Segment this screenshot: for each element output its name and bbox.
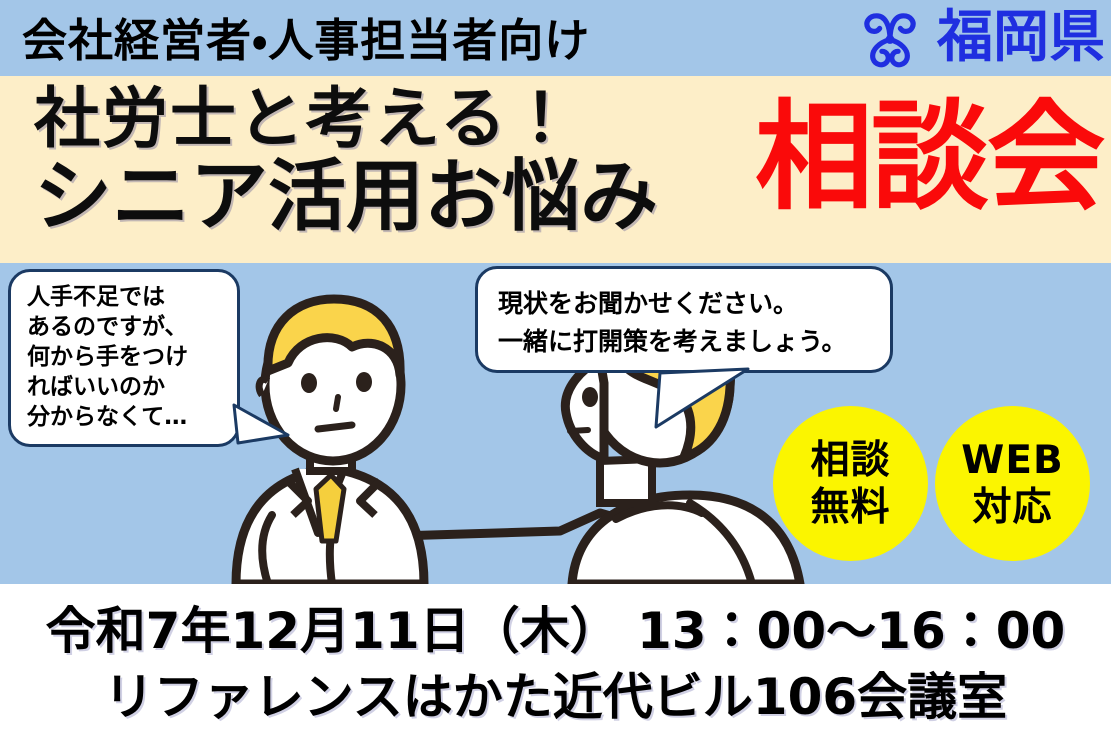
illustration-band: 人手不足では あるのですが、 何から手をつけ ればいいのか 分からなくて… 現状… xyxy=(0,263,1111,584)
fee-badge-line-2: 無料 xyxy=(810,484,890,531)
poster-root: 会社経営者・人事担当者向け 福岡県 社労士と考える！ xyxy=(0,0,1111,729)
header-audience-text: 会社経営者・人事担当者向け xyxy=(22,4,590,69)
fukuoka-plum-blossom-logo-icon xyxy=(853,4,927,72)
client-bubble-text: 人手不足では あるのですが、 何から手をつけ ればいいのか 分からなくて… xyxy=(11,272,237,432)
client-bubble: 人手不足では あるのですが、 何から手をつけ ればいいのか 分からなくて… xyxy=(8,269,240,447)
event-venue-text: リファレンスはかた近代ビル106会議室 xyxy=(0,664,1111,729)
brand-name-text: 福岡県 xyxy=(937,10,1105,66)
title-highlight-text: 相談会 xyxy=(755,98,1103,216)
advisor-bubble: 現状をお聞かせください。 一緒に打開策を考えましょう。 xyxy=(475,266,893,373)
footer-band: 令和7年12月11日（木） 13：00〜16：00 リファレンスはかた近代ビル1… xyxy=(0,584,1111,729)
fee-badge: 相談 無料 xyxy=(773,406,928,561)
web-badge-line-1: WEB xyxy=(961,437,1063,484)
title-line-1: 社労士と考える！ xyxy=(34,81,734,157)
event-datetime-text: 令和7年12月11日（木） 13：00〜16：00 xyxy=(0,584,1111,664)
web-badge: WEB 対応 xyxy=(935,406,1090,561)
title-main-group: 社労士と考える！ シニア活用お悩み xyxy=(34,81,734,241)
title-band: 社労士と考える！ シニア活用お悩み 相談会 xyxy=(0,76,1111,263)
header-band: 会社経営者・人事担当者向け 福岡県 xyxy=(0,0,1111,76)
advisor-bubble-text: 現状をお聞かせください。 一緒に打開策を考えましょう。 xyxy=(478,269,890,361)
brand-lockup: 福岡県 xyxy=(853,0,1105,76)
fee-badge-line-1: 相談 xyxy=(810,437,890,484)
advisor-bubble-tail-icon xyxy=(638,367,758,433)
web-badge-line-2: 対応 xyxy=(972,484,1052,531)
title-line-2: シニア活用お悩み xyxy=(34,153,734,241)
client-bubble-tail-icon xyxy=(232,403,292,449)
